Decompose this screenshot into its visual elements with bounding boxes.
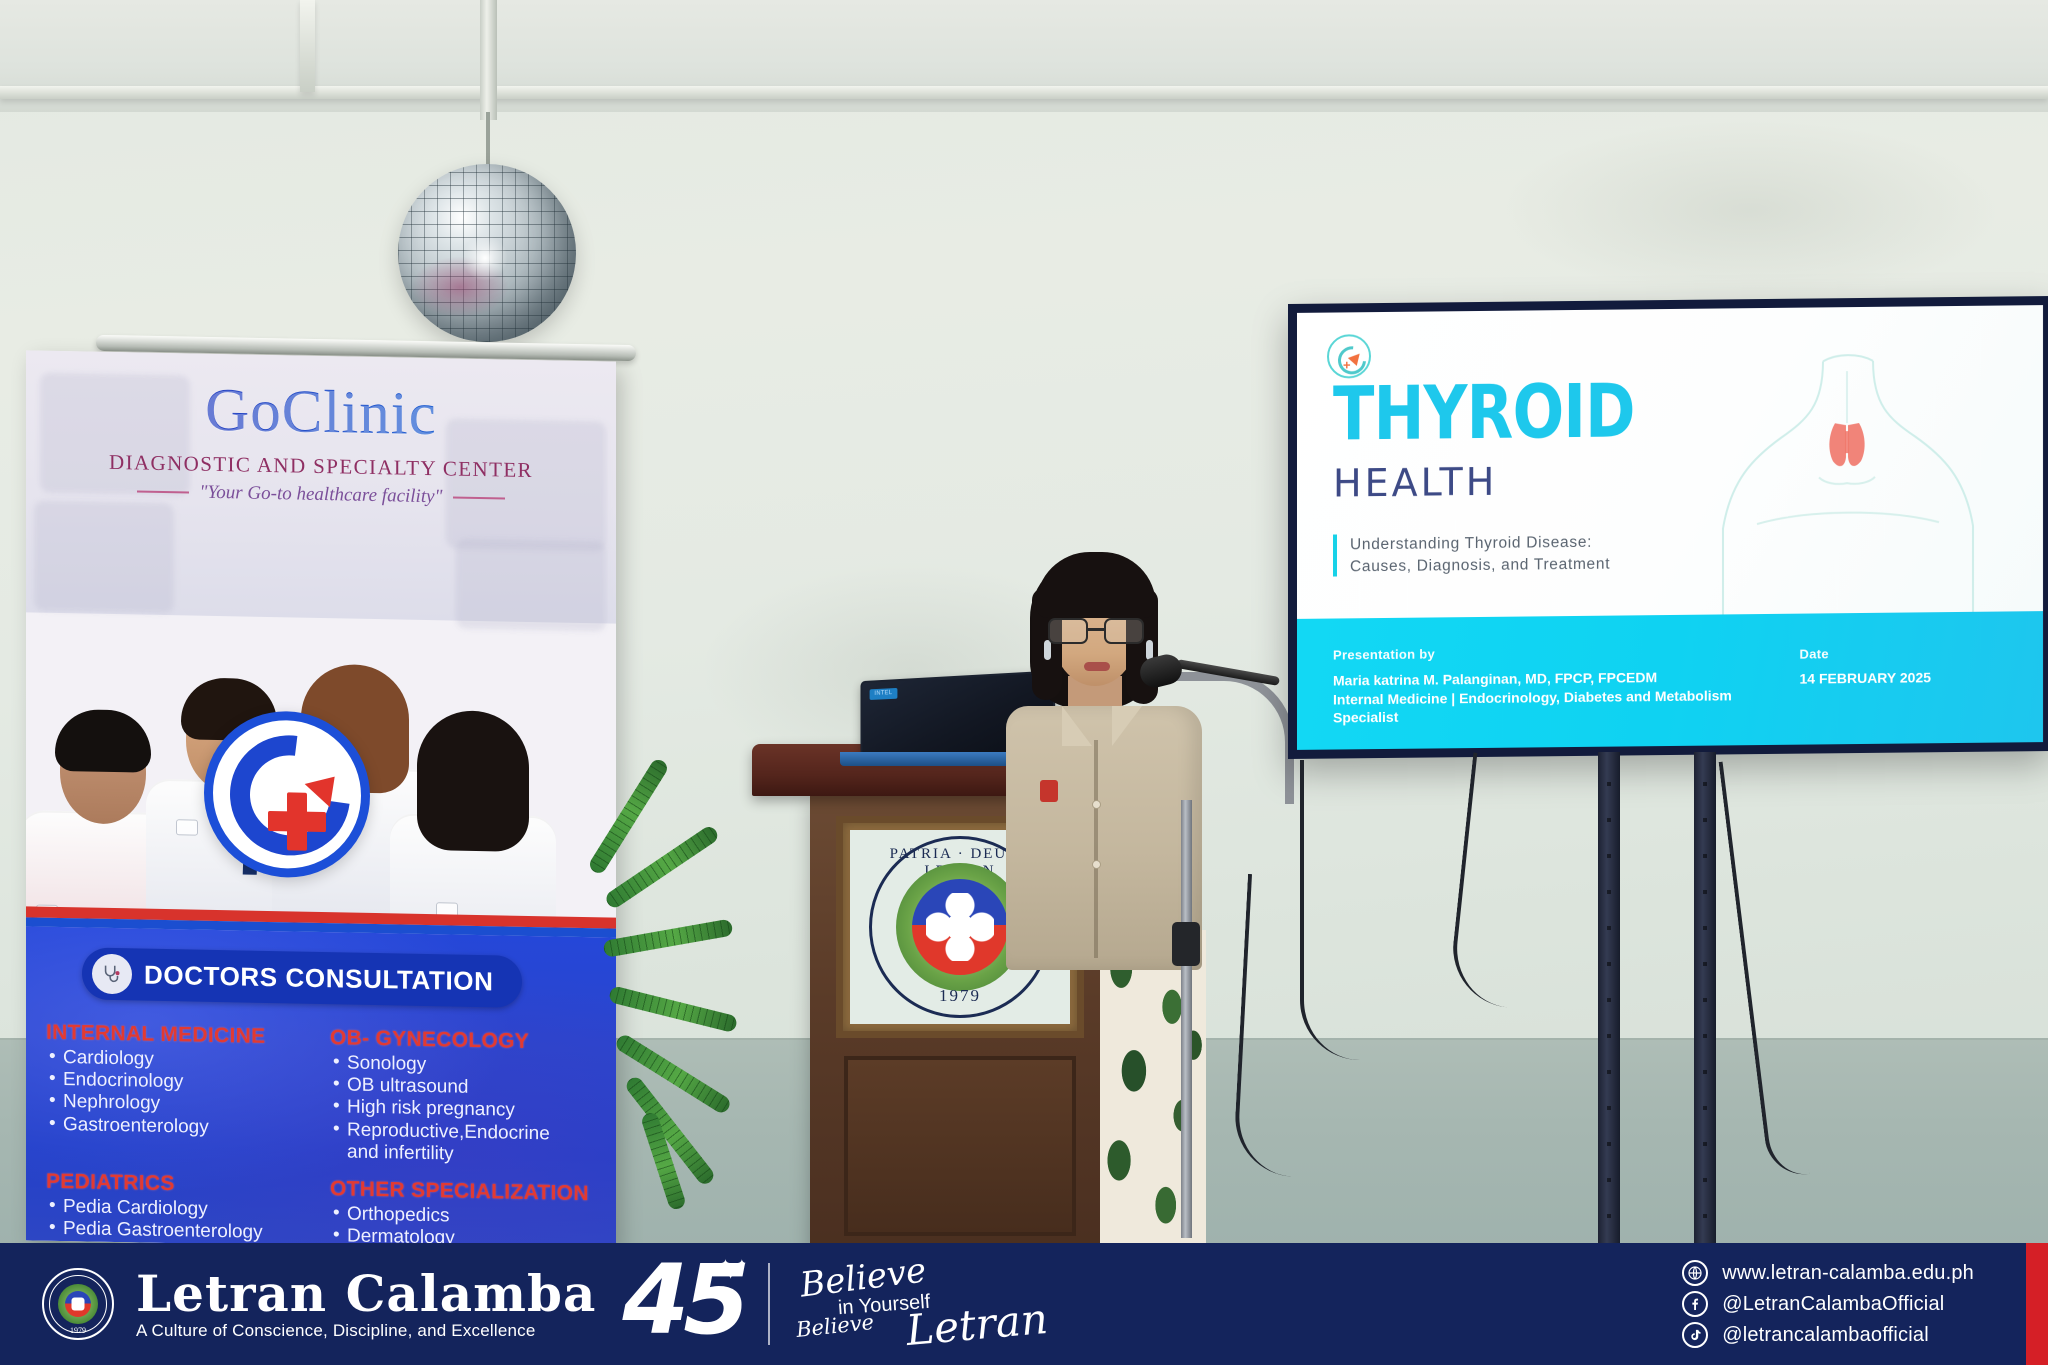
seal-shield-icon [65, 1291, 91, 1317]
speaker-collar-left [1062, 706, 1092, 746]
seal-shield [912, 879, 1008, 975]
service-item: Pedia Gastroenterology [46, 1218, 316, 1245]
speaker-mouth [1084, 662, 1110, 671]
tiktok-icon [1682, 1322, 1708, 1348]
services-heading-other-specialization: OTHER SPECIALIZATION [330, 1177, 600, 1206]
doctor-hair [55, 709, 151, 773]
slide-date-block: Date 14 FEBRUARY 2025 [1799, 645, 1931, 686]
slide-description: Understanding Thyroid Disease: Causes, D… [1350, 532, 1610, 579]
thyroid-neck-illustration [1697, 326, 1997, 619]
footer-website-row[interactable]: www.letran-calamba.edu.ph [1682, 1260, 1974, 1286]
footer-facebook-row[interactable]: @LetranCalambaOfficial [1682, 1291, 1974, 1317]
services-list-ob-gynecology: Sonology OB ultrasound High risk pregnan… [330, 1052, 600, 1168]
footer-seal-year: 1979 [44, 1326, 112, 1335]
doctor-face [430, 722, 516, 828]
eyeglass-lens-right [1104, 618, 1144, 644]
wall-television: + THYROID HEALTH Understanding Thyroid D… [1288, 296, 2048, 759]
banner-services-section: DOCTORS CONSULTATION INTERNAL MEDICINE C… [26, 926, 616, 1251]
goclinic-rollup-banner: GoClinic DIAGNOSTIC AND SPECIALTY CENTER… [26, 350, 616, 1251]
speaker-lapel-pin [1040, 780, 1058, 802]
doctor-photo-1 [60, 719, 146, 825]
slide-description-block: Understanding Thyroid Disease: Causes, D… [1333, 532, 1610, 579]
date-label: Date [1799, 645, 1931, 661]
doctor-hair [417, 710, 529, 852]
tagline-rule-right [453, 497, 505, 500]
eyeglass-bridge [1088, 628, 1104, 631]
believe-word-3: Believe [795, 1310, 875, 1342]
services-columns: INTERNAL MEDICINE Cardiology Endocrinolo… [46, 1021, 600, 1252]
services-heading-internal-medicine: INTERNAL MEDICINE [46, 1021, 316, 1050]
slide-title: THYROID [1333, 377, 1635, 448]
ceiling-beam-vertical [300, 0, 315, 92]
goclinic-cross-horizontal [268, 811, 326, 832]
footer-brand-tagline: A Culture of Conscience, Discipline, and… [136, 1321, 596, 1341]
service-item: Gastroenterology [46, 1113, 316, 1140]
tv-stand-post-right [1694, 752, 1716, 1244]
microphone-cable-clip [1172, 922, 1200, 966]
facebook-icon [1682, 1291, 1708, 1317]
footer-website-text: www.letran-calamba.edu.ph [1722, 1262, 1974, 1285]
services-list-internal-medicine: Cardiology Endocrinology Nephrology Gast… [46, 1047, 316, 1141]
speaker-shirt-placket [1094, 740, 1098, 958]
believe-in-yourself-lockup: Believe in Yourself Believe Letran [794, 1256, 1044, 1352]
services-heading-ob-gynecology: OB- GYNECOLOGY [330, 1026, 600, 1055]
palm-frond [608, 985, 738, 1033]
doctors-consultation-pill: DOCTORS CONSULTATION [82, 947, 522, 1007]
footer-tiktok-row[interactable]: @letrancalambaofficial [1682, 1322, 1974, 1348]
speaker-eyeglasses [1046, 618, 1146, 644]
slide-subtitle: HEALTH [1333, 463, 1497, 503]
seal-year-text: 1979 [872, 986, 1048, 1006]
seal-laurel-wreath [896, 863, 1024, 991]
slide-presenter-block: Presentation by Maria katrina M. Palangi… [1333, 643, 1732, 727]
doctor-face [60, 719, 146, 825]
footer-divider [768, 1263, 770, 1345]
footer-tiktok-text: @letrancalambaofficial [1722, 1324, 1929, 1347]
institution-footer-bar: 1979 Letran Calamba A Culture of Conscie… [0, 1243, 2048, 1365]
palm-frond [613, 1032, 732, 1115]
services-list-pediatrics: Pedia Cardiology Pedia Gastroenterology [46, 1196, 316, 1246]
television-screen: + THYROID HEALTH Understanding Thyroid D… [1297, 305, 2043, 750]
letran-seal-icon: 1979 [42, 1268, 114, 1340]
palm-frond [603, 919, 734, 958]
service-item-continuation: and infertility [330, 1141, 600, 1168]
speaker-collar-right [1112, 706, 1142, 746]
slide-description-accent-bar [1333, 534, 1337, 576]
footer-accent-stripe [2026, 1243, 2048, 1365]
stethoscope-icon [92, 954, 132, 995]
ceiling-pipe [480, 0, 497, 120]
globe-icon [1682, 1260, 1708, 1286]
potted-palm-plant [590, 855, 840, 1255]
scene-root: GoClinic DIAGNOSTIC AND SPECIALTY CENTER… [0, 0, 2048, 1365]
banner-brand-clinic: Clinic [282, 378, 437, 448]
footer-brand-name: Letran Calamba [136, 1268, 596, 1319]
banner-brand-go: Go [205, 377, 282, 445]
tv-stand-post-left [1598, 752, 1620, 1244]
wall-stain [1500, 120, 2000, 300]
speaker-shirt-button [1092, 860, 1101, 869]
services-heading-pediatrics: PEDIATRICS [46, 1170, 316, 1199]
floor-cable [1232, 874, 1487, 1186]
services-column-left: INTERNAL MEDICINE Cardiology Endocrinolo… [46, 1021, 316, 1252]
mirror-ball [398, 164, 576, 342]
slide-description-line-1: Understanding Thyroid Disease: [1350, 532, 1610, 557]
slide-description-line-2: Causes, Diagnosis, and Treatment [1350, 554, 1610, 579]
mirror-ball-highlight [462, 235, 508, 281]
date-value: 14 FEBRUARY 2025 [1799, 669, 1931, 686]
eyeglass-lens-left [1048, 618, 1088, 644]
laptop-sticker: INTEL [870, 688, 898, 700]
tagline-rule-left [137, 490, 189, 493]
services-column-right: OB- GYNECOLOGY Sonology OB ultrasound Hi… [330, 1026, 600, 1251]
footer-brand-block: Letran Calamba A Culture of Conscience, … [136, 1268, 596, 1341]
footer-social-links: www.letran-calamba.edu.ph @LetranCalamba… [1682, 1255, 1974, 1353]
microphone-stand-pole[interactable] [1181, 800, 1192, 1238]
footer-facebook-text: @LetranCalambaOfficial [1722, 1293, 1944, 1316]
seal-cross-icon [926, 893, 994, 961]
doctor-name-tag [176, 819, 198, 835]
doctor-photo-4 [430, 722, 516, 828]
goclinic-plus-icon: + [1343, 358, 1351, 371]
anniversary-stars-icon: ✦ ✦ ✦ [721, 1258, 749, 1282]
speaker-shirt-button [1092, 800, 1101, 809]
banner-brand-title: GoClinic [26, 376, 616, 448]
podium-lower-panel [844, 1056, 1076, 1236]
presentation-by-label: Presentation by [1333, 643, 1732, 662]
doctors-consultation-label: DOCTORS CONSULTATION [144, 959, 494, 997]
anniversary-45-logo: 45 ✦ ✦ ✦ [622, 1252, 750, 1356]
